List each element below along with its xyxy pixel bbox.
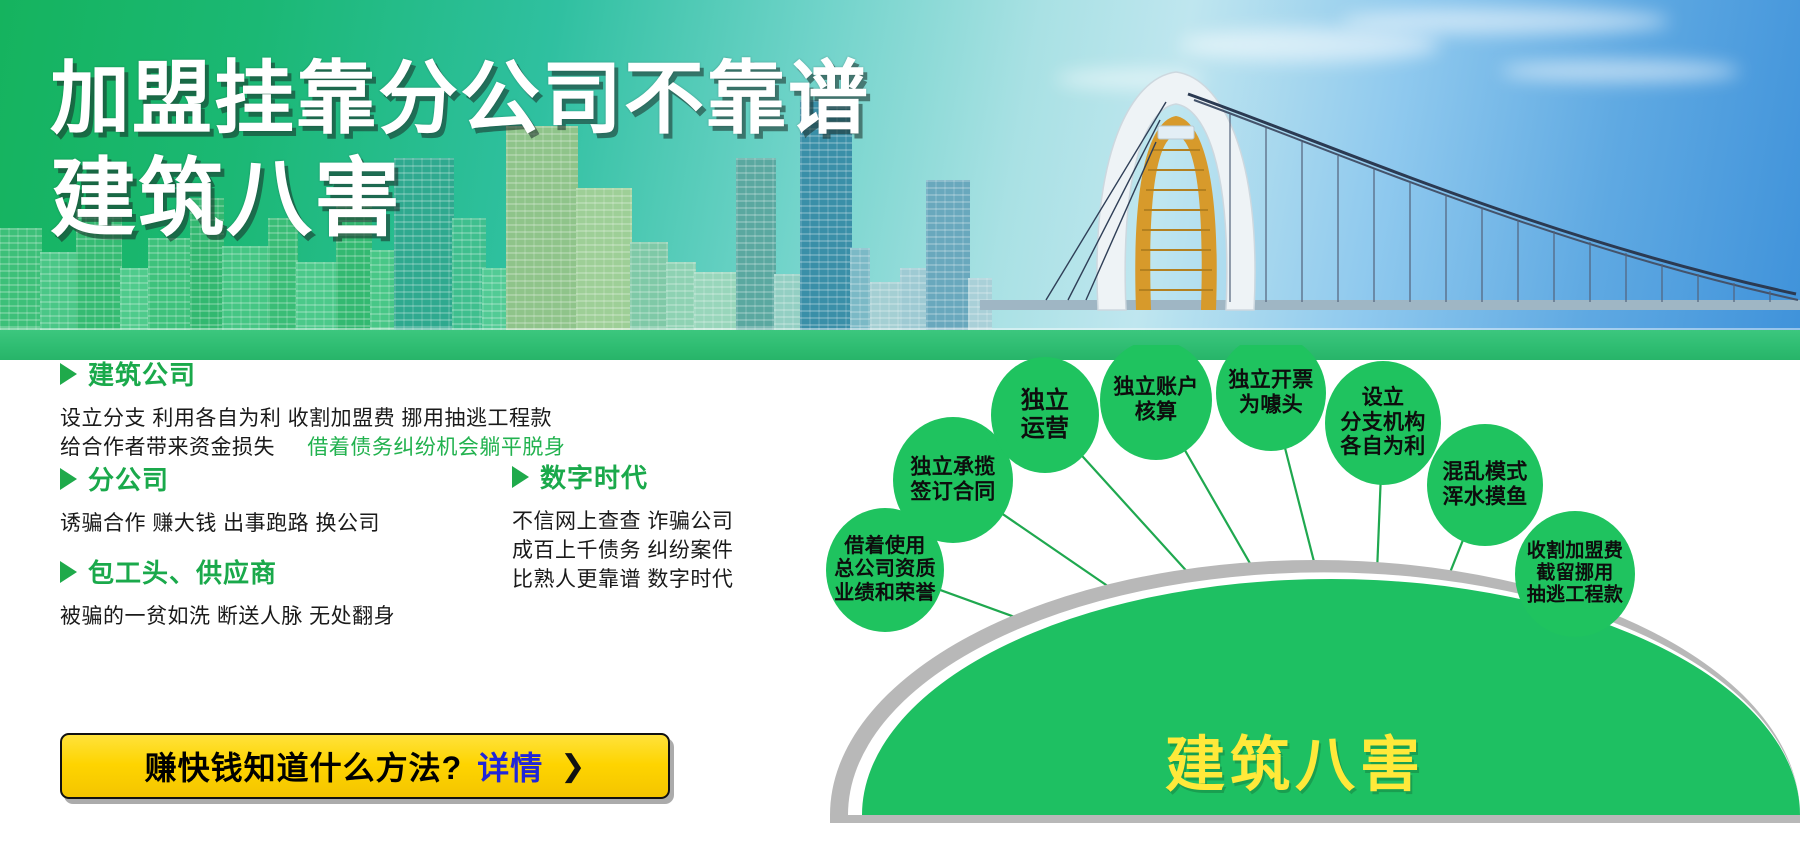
body-line-text: 给合作者带来资金损失 bbox=[60, 436, 275, 459]
section-body: 诱骗合作 赚大钱 出事跑路 换公司 bbox=[60, 510, 490, 539]
bubble-b8[interactable] bbox=[1515, 511, 1635, 637]
section-header: 分公司 bbox=[60, 460, 490, 497]
section-title: 数字时代 bbox=[540, 458, 648, 495]
balloon-diagram: 借着使用总公司资质业绩和荣誉独立承揽签订合同独立运营独立账户核算独立开票为噱头设… bbox=[790, 345, 1800, 844]
section-header: 包工头、供应商 bbox=[60, 553, 540, 590]
section-digital-era: 数字时代 不信网上查查 诈骗公司 成百上千债务 纠纷案件 比熟人更靠谱 数字时代 bbox=[512, 458, 772, 595]
section-contractor-supplier: 包工头、供应商 被骗的一贫如洗 断送人脉 无处翻身 bbox=[60, 553, 540, 632]
triangle-bullet-icon bbox=[60, 468, 77, 490]
section-header: 数字时代 bbox=[512, 458, 772, 495]
section-body: 设立分支 利用各自为利 收割加盟费 挪用抽逃工程款 给合作者带来资金损失 借着债… bbox=[60, 405, 620, 463]
triangle-bullet-icon bbox=[512, 466, 529, 488]
section-title: 包工头、供应商 bbox=[88, 553, 277, 590]
bridge-illustration bbox=[980, 38, 1800, 338]
body-line: 设立分支 利用各自为利 收割加盟费 挪用抽逃工程款 bbox=[60, 405, 620, 434]
bubble-b7[interactable] bbox=[1427, 424, 1543, 546]
section-body: 不信网上查查 诈骗公司 成百上千债务 纠纷案件 比熟人更靠谱 数字时代 bbox=[512, 508, 772, 595]
triangle-bullet-icon bbox=[60, 363, 77, 385]
banner-title-line1: 加盟挂靠分公司不靠谱 bbox=[50, 58, 870, 140]
body-line-highlight: 借着债务纠纷机会躺平脱身 bbox=[307, 436, 565, 459]
cloud-shape bbox=[1340, 8, 1670, 34]
chevron-right-icon: ❯ bbox=[560, 749, 585, 784]
dome-center-label: 建筑八害 bbox=[1165, 717, 1425, 804]
triangle-bullet-icon bbox=[60, 561, 77, 583]
bubble-b4[interactable] bbox=[1100, 345, 1212, 460]
banner-title-block: 加盟挂靠分公司不靠谱 建筑八害 bbox=[50, 58, 870, 243]
section-title: 分公司 bbox=[88, 460, 169, 497]
banner-title-line2: 建筑八害 bbox=[50, 156, 870, 244]
section-branch-company: 分公司 诱骗合作 赚大钱 出事跑路 换公司 bbox=[60, 460, 490, 539]
body-line: 被骗的一贫如洗 断送人脉 无处翻身 bbox=[60, 603, 540, 632]
cta-button[interactable]: 赚快钱知道什么方法? 详情 ❯ bbox=[60, 733, 670, 799]
body-line: 不信网上查查 诈骗公司 bbox=[512, 508, 772, 537]
section-header: 建筑公司 bbox=[60, 355, 620, 392]
bubble-b3[interactable] bbox=[991, 357, 1099, 473]
bubble-b6[interactable] bbox=[1325, 361, 1441, 485]
body-line: 比熟人更靠谱 数字时代 bbox=[512, 566, 772, 595]
body-line: 成百上千债务 纠纷案件 bbox=[512, 537, 772, 566]
section-body: 被骗的一贫如洗 断送人脉 无处翻身 bbox=[60, 603, 540, 632]
cta-detail-link[interactable]: 详情 bbox=[477, 743, 543, 789]
body-line: 诱骗合作 赚大钱 出事跑路 换公司 bbox=[60, 510, 490, 539]
left-content-column: 建筑公司 设立分支 利用各自为利 收割加盟费 挪用抽逃工程款 给合作者带来资金损… bbox=[0, 360, 790, 844]
bubble-b5[interactable] bbox=[1216, 345, 1326, 451]
cta-main-label: 赚快钱知道什么方法? bbox=[145, 743, 463, 789]
section-construction-company: 建筑公司 设立分支 利用各自为利 收割加盟费 挪用抽逃工程款 给合作者带来资金损… bbox=[60, 355, 620, 463]
section-title: 建筑公司 bbox=[88, 355, 196, 392]
header-banner: 加盟挂靠分公司不靠谱 建筑八害 bbox=[0, 0, 1800, 360]
